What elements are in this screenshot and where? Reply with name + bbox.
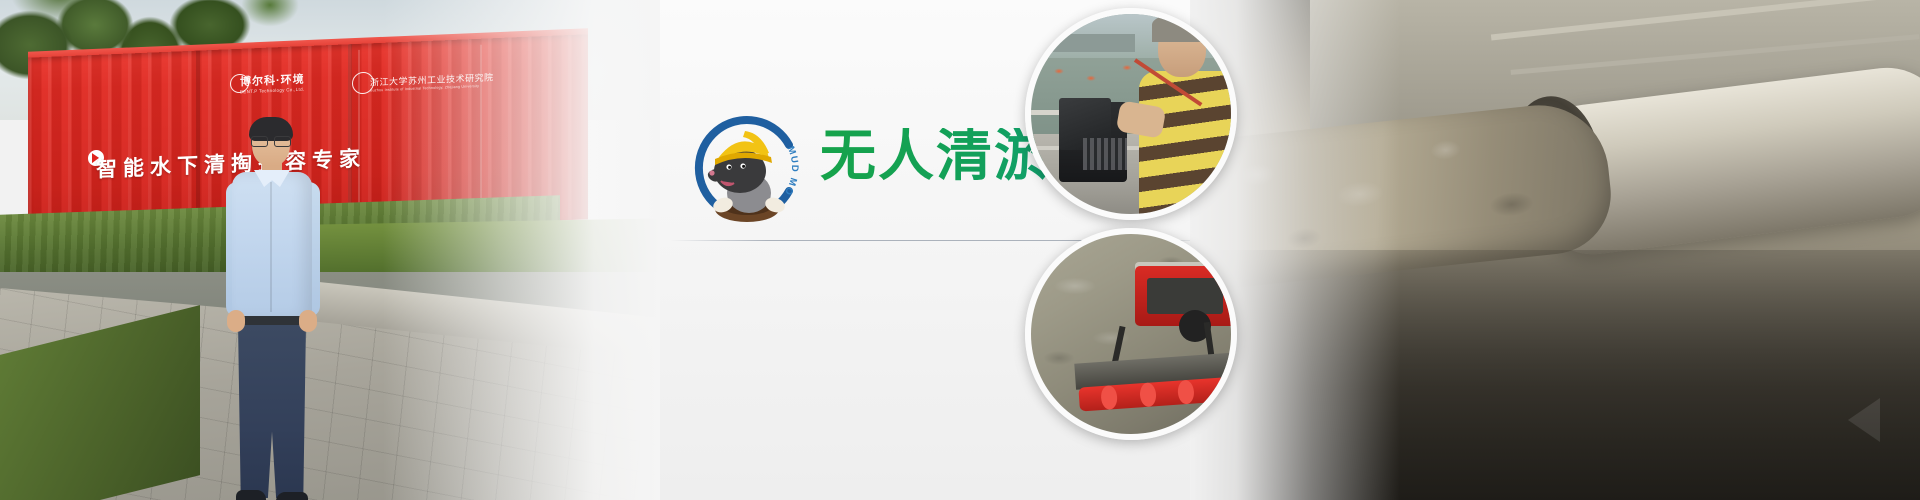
left-photo: 博尔科·环境 BENT.P Technology Co.,Ltd. 浙江大学苏州…	[0, 0, 660, 500]
plant-building	[1043, 34, 1135, 52]
auger-flight	[1139, 382, 1157, 407]
chevron-right-icon	[1848, 398, 1880, 442]
auger-flight	[1101, 385, 1119, 410]
inset-photo-operator	[1025, 8, 1237, 220]
control-keypad	[1083, 138, 1127, 170]
operator-striped-shirt	[1139, 71, 1237, 214]
auger-flight	[1177, 380, 1195, 405]
right-photo	[1190, 0, 1920, 500]
auger-flight	[1216, 377, 1234, 402]
operator-cap	[1152, 14, 1212, 41]
left-photo-fade	[0, 0, 660, 500]
robot-interior	[1147, 278, 1223, 314]
operator	[1135, 18, 1237, 214]
hero-banner: 博尔科·环境 BENT.P Technology Co.,Ltd. 浙江大学苏州…	[0, 0, 1920, 500]
mud-mole-logo: MUD MOLE	[685, 105, 810, 230]
inset-photo-dredging-robot	[1025, 228, 1237, 440]
